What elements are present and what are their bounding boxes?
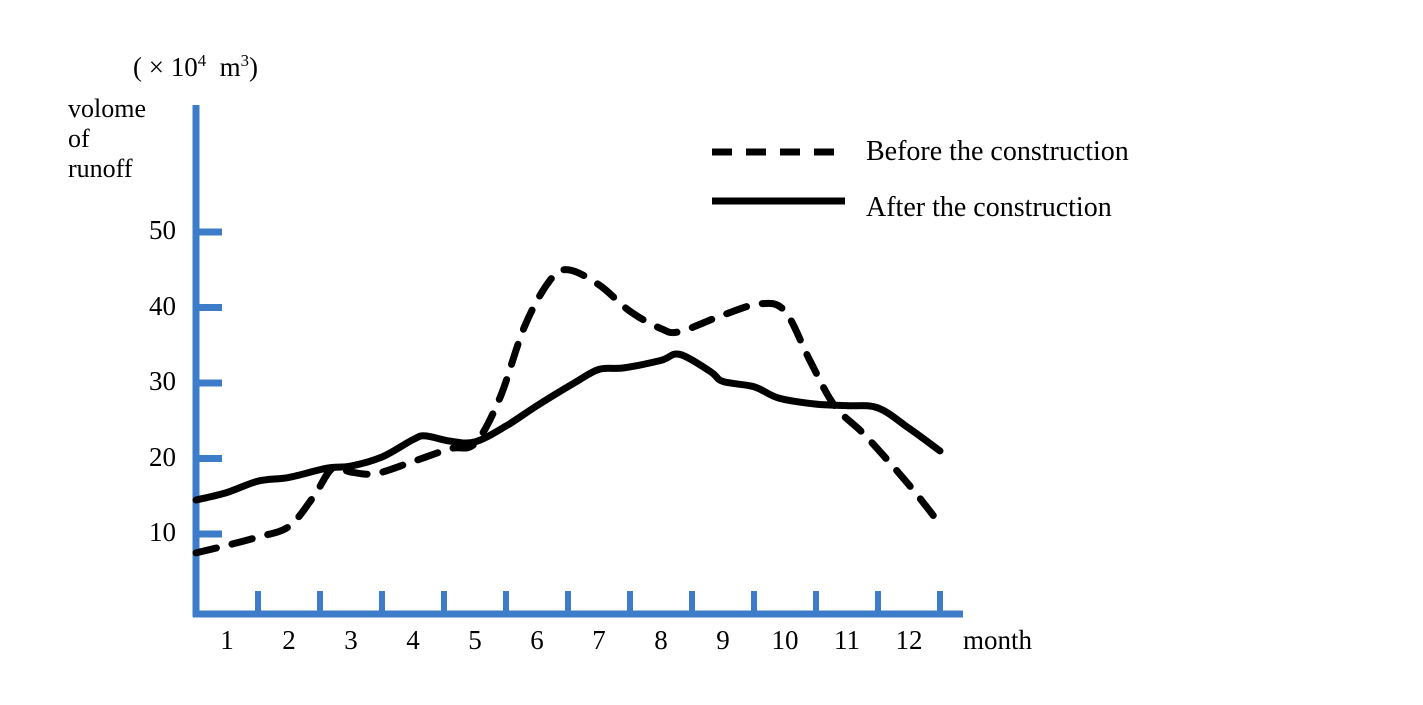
x-tick-label: 5 — [450, 627, 500, 654]
x-tick-label: 6 — [512, 627, 562, 654]
chart-page: ( × 104 m3) volome of runoff 1020304050 … — [0, 0, 1423, 705]
axes-group — [193, 105, 963, 617]
y-axis-title-line-1: volome — [68, 94, 146, 124]
legend-label-before: Before the construction — [866, 138, 1129, 166]
series-group — [196, 270, 940, 553]
legend-swatches — [712, 152, 845, 201]
y-tick-marks — [196, 232, 222, 534]
y-tick-label: 30 — [118, 368, 176, 395]
y-tick-label: 20 — [118, 444, 176, 471]
series-after-the-construction-line — [196, 354, 940, 500]
x-tick-label: 10 — [760, 627, 810, 654]
x-axis-title: month — [963, 627, 1032, 654]
x-tick-label: 11 — [822, 627, 872, 654]
x-tick-label: 8 — [636, 627, 686, 654]
y-axis-title: volome of runoff — [68, 94, 146, 184]
y-tick-label: 50 — [118, 217, 176, 244]
x-tick-label: 1 — [202, 627, 252, 654]
legend-label-after: After the construction — [866, 194, 1112, 222]
y-tick-label: 40 — [118, 293, 176, 320]
x-tick-label: 7 — [574, 627, 624, 654]
x-tick-label: 3 — [326, 627, 376, 654]
y-axis-unit-label: ( × 104 m3) — [133, 54, 258, 81]
y-axis-title-line-3: runoff — [68, 154, 146, 184]
runoff-line-chart — [0, 0, 1423, 705]
series-before-the-construction-line — [196, 270, 940, 553]
x-tick-label: 12 — [884, 627, 934, 654]
x-tick-label: 9 — [698, 627, 748, 654]
y-tick-label: 10 — [118, 519, 176, 546]
x-tick-label: 2 — [264, 627, 314, 654]
y-axis-title-line-2: of — [68, 124, 146, 154]
x-tick-label: 4 — [388, 627, 438, 654]
